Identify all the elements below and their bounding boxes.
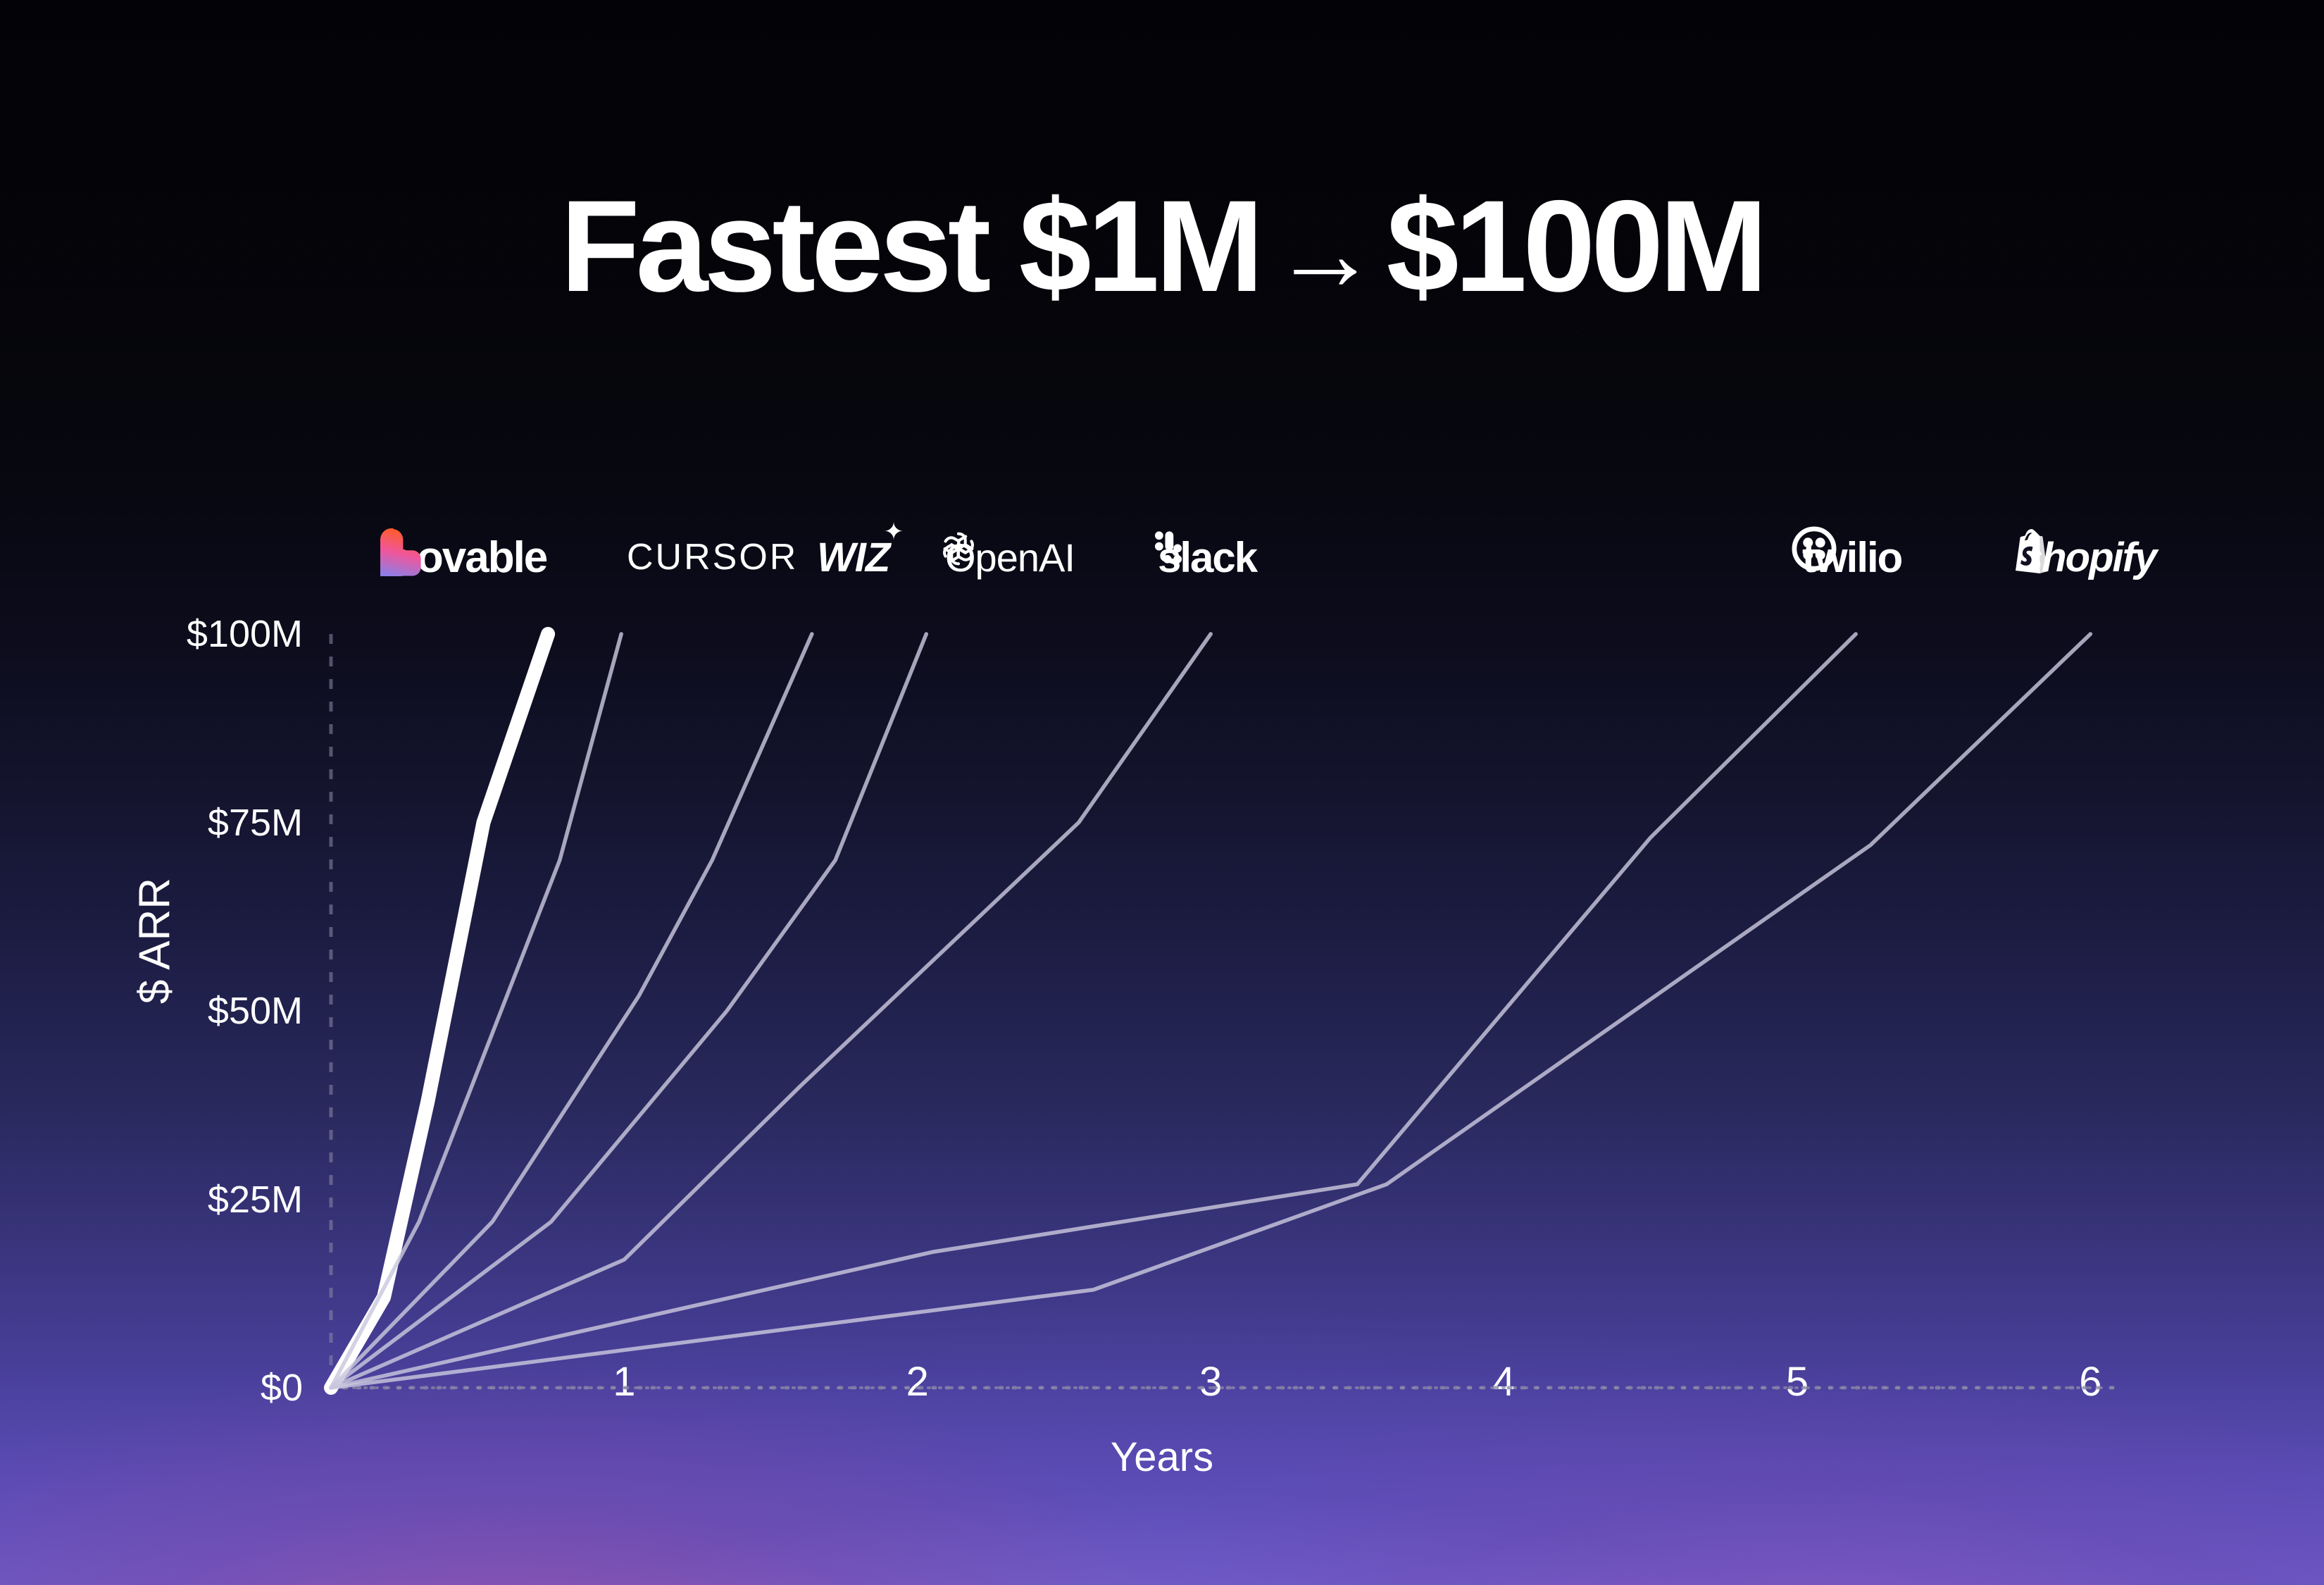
chart-plot-area [331,634,2120,1388]
y-tick-label: $0 [0,1366,345,1410]
legend-label-cursor: CURSOR [627,536,798,578]
x-axis-label: Years [0,1434,2324,1481]
gridlines-horizontal [331,634,2120,1388]
legend-item-wiz[interactable]: WIZ✦ [817,527,889,588]
y-tick-label: $25M [0,1178,345,1222]
y-tick-label: $50M [0,989,345,1033]
legend-item-cursor[interactable]: CURSOR [627,527,798,588]
legend-item-slack[interactable]: slack [1148,527,1256,588]
legend-item-twilio[interactable]: twilio [1792,527,1901,588]
arrow-icon: → [1260,194,1387,312]
legend-item-openai[interactable]: OpenAI [937,527,1075,588]
legend-label-wiz: WIZ [817,535,889,580]
page-title: Fastest $1M→$100M [0,182,2324,312]
legend-item-lovable[interactable]: Lovable [380,527,546,588]
title-prefix: Fastest $1M [561,174,1260,319]
chart-canvas: Fastest $1M→$100M LovableCURSORWIZ✦OpenA… [0,0,2324,1585]
legend-item-shopify[interactable]: shopify [2011,527,2156,588]
legend-row: LovableCURSORWIZ✦OpenAIslacktwilioshopif… [0,527,2324,588]
wiz-star-icon: ✦ [884,520,904,544]
title-suffix: $100M [1387,174,1764,319]
series-line-wiz [331,634,812,1388]
y-tick-label: $100M [0,612,345,656]
y-tick-label: $75M [0,801,345,845]
